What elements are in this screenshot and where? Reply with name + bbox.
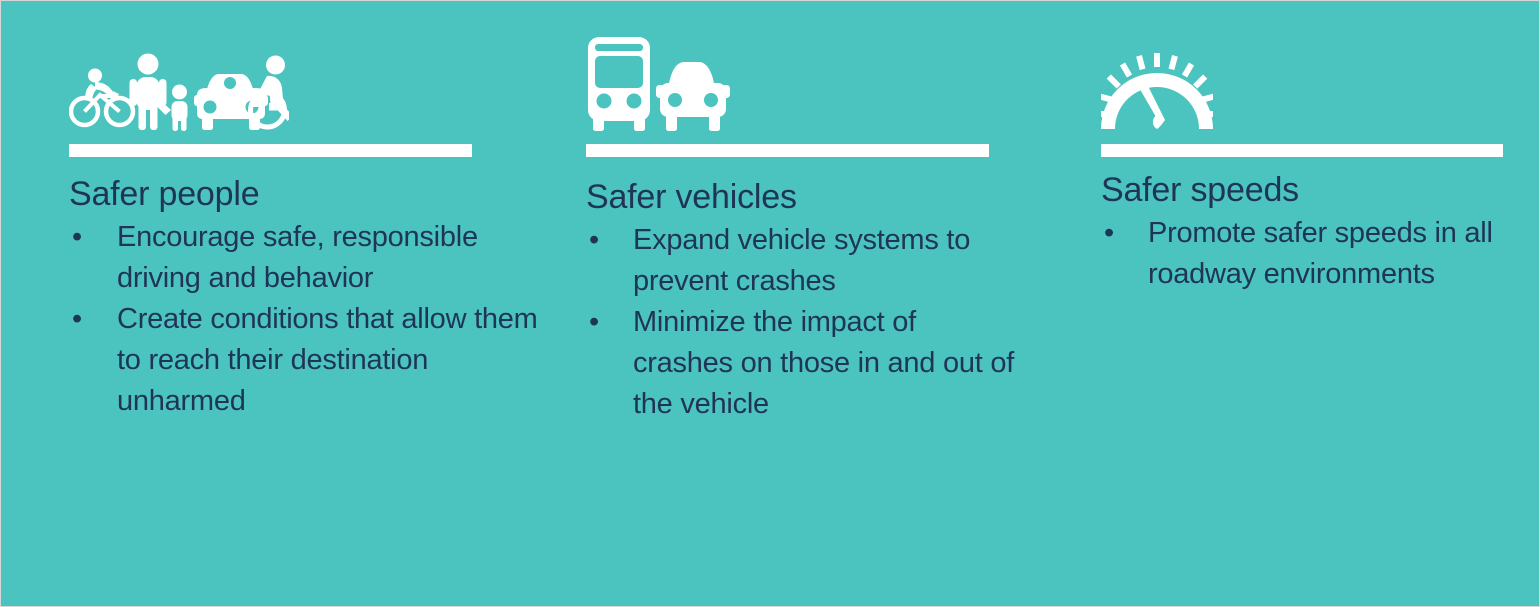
accent-rule (1101, 144, 1503, 157)
road-users-icon (69, 51, 289, 136)
column-safer-speeds: Safer speeds • Promote safer speeds in a… (1101, 1, 1521, 607)
list-item-text: Encourage safe, responsible driving and … (117, 221, 478, 294)
bus-and-car-icon (586, 37, 736, 136)
column-safer-vehicles: Safer vehicles • Expand vehicle systems … (586, 1, 1016, 607)
bullet-list-safer-speeds: • Promote safer speeds in all roadway en… (1101, 213, 1521, 295)
heading-safer-speeds: Safer speeds (1101, 171, 1521, 210)
list-item: • Create conditions that allow them to r… (69, 299, 539, 422)
text-block-safer-speeds: Safer speeds • Promote safer speeds in a… (1101, 171, 1521, 295)
bullet-marker: • (589, 302, 599, 343)
list-item: • Minimize the impact of crashes on thos… (586, 302, 1016, 425)
list-item: • Expand vehicle systems to prevent cras… (586, 220, 1016, 302)
safe-system-slide: Safer people • Encourage safe, responsib… (0, 0, 1540, 607)
text-block-safer-people: Safer people • Encourage safe, responsib… (69, 175, 539, 422)
text-block-safer-vehicles: Safer vehicles • Expand vehicle systems … (586, 178, 1016, 425)
list-item-text: Minimize the impact of crashes on those … (633, 306, 1014, 420)
list-item: • Encourage safe, responsible driving an… (69, 217, 539, 299)
speedometer-icon (1101, 43, 1213, 134)
bullet-marker: • (589, 220, 599, 261)
heading-safer-vehicles: Safer vehicles (586, 178, 1016, 217)
list-item: • Promote safer speeds in all roadway en… (1101, 213, 1521, 295)
list-item-text: Create conditions that allow them to rea… (117, 303, 538, 417)
bullet-list-safer-people: • Encourage safe, responsible driving an… (69, 217, 539, 421)
bullet-list-safer-vehicles: • Expand vehicle systems to prevent cras… (586, 220, 1016, 424)
bullet-marker: • (1104, 213, 1114, 254)
accent-rule (69, 144, 472, 157)
bullet-marker: • (72, 299, 82, 340)
column-safer-people: Safer people • Encourage safe, responsib… (69, 1, 539, 607)
list-item-text: Expand vehicle systems to prevent crashe… (633, 224, 970, 297)
list-item-text: Promote safer speeds in all roadway envi… (1148, 217, 1493, 290)
heading-safer-people: Safer people (69, 175, 539, 214)
bullet-marker: • (72, 217, 82, 258)
accent-rule (586, 144, 989, 157)
